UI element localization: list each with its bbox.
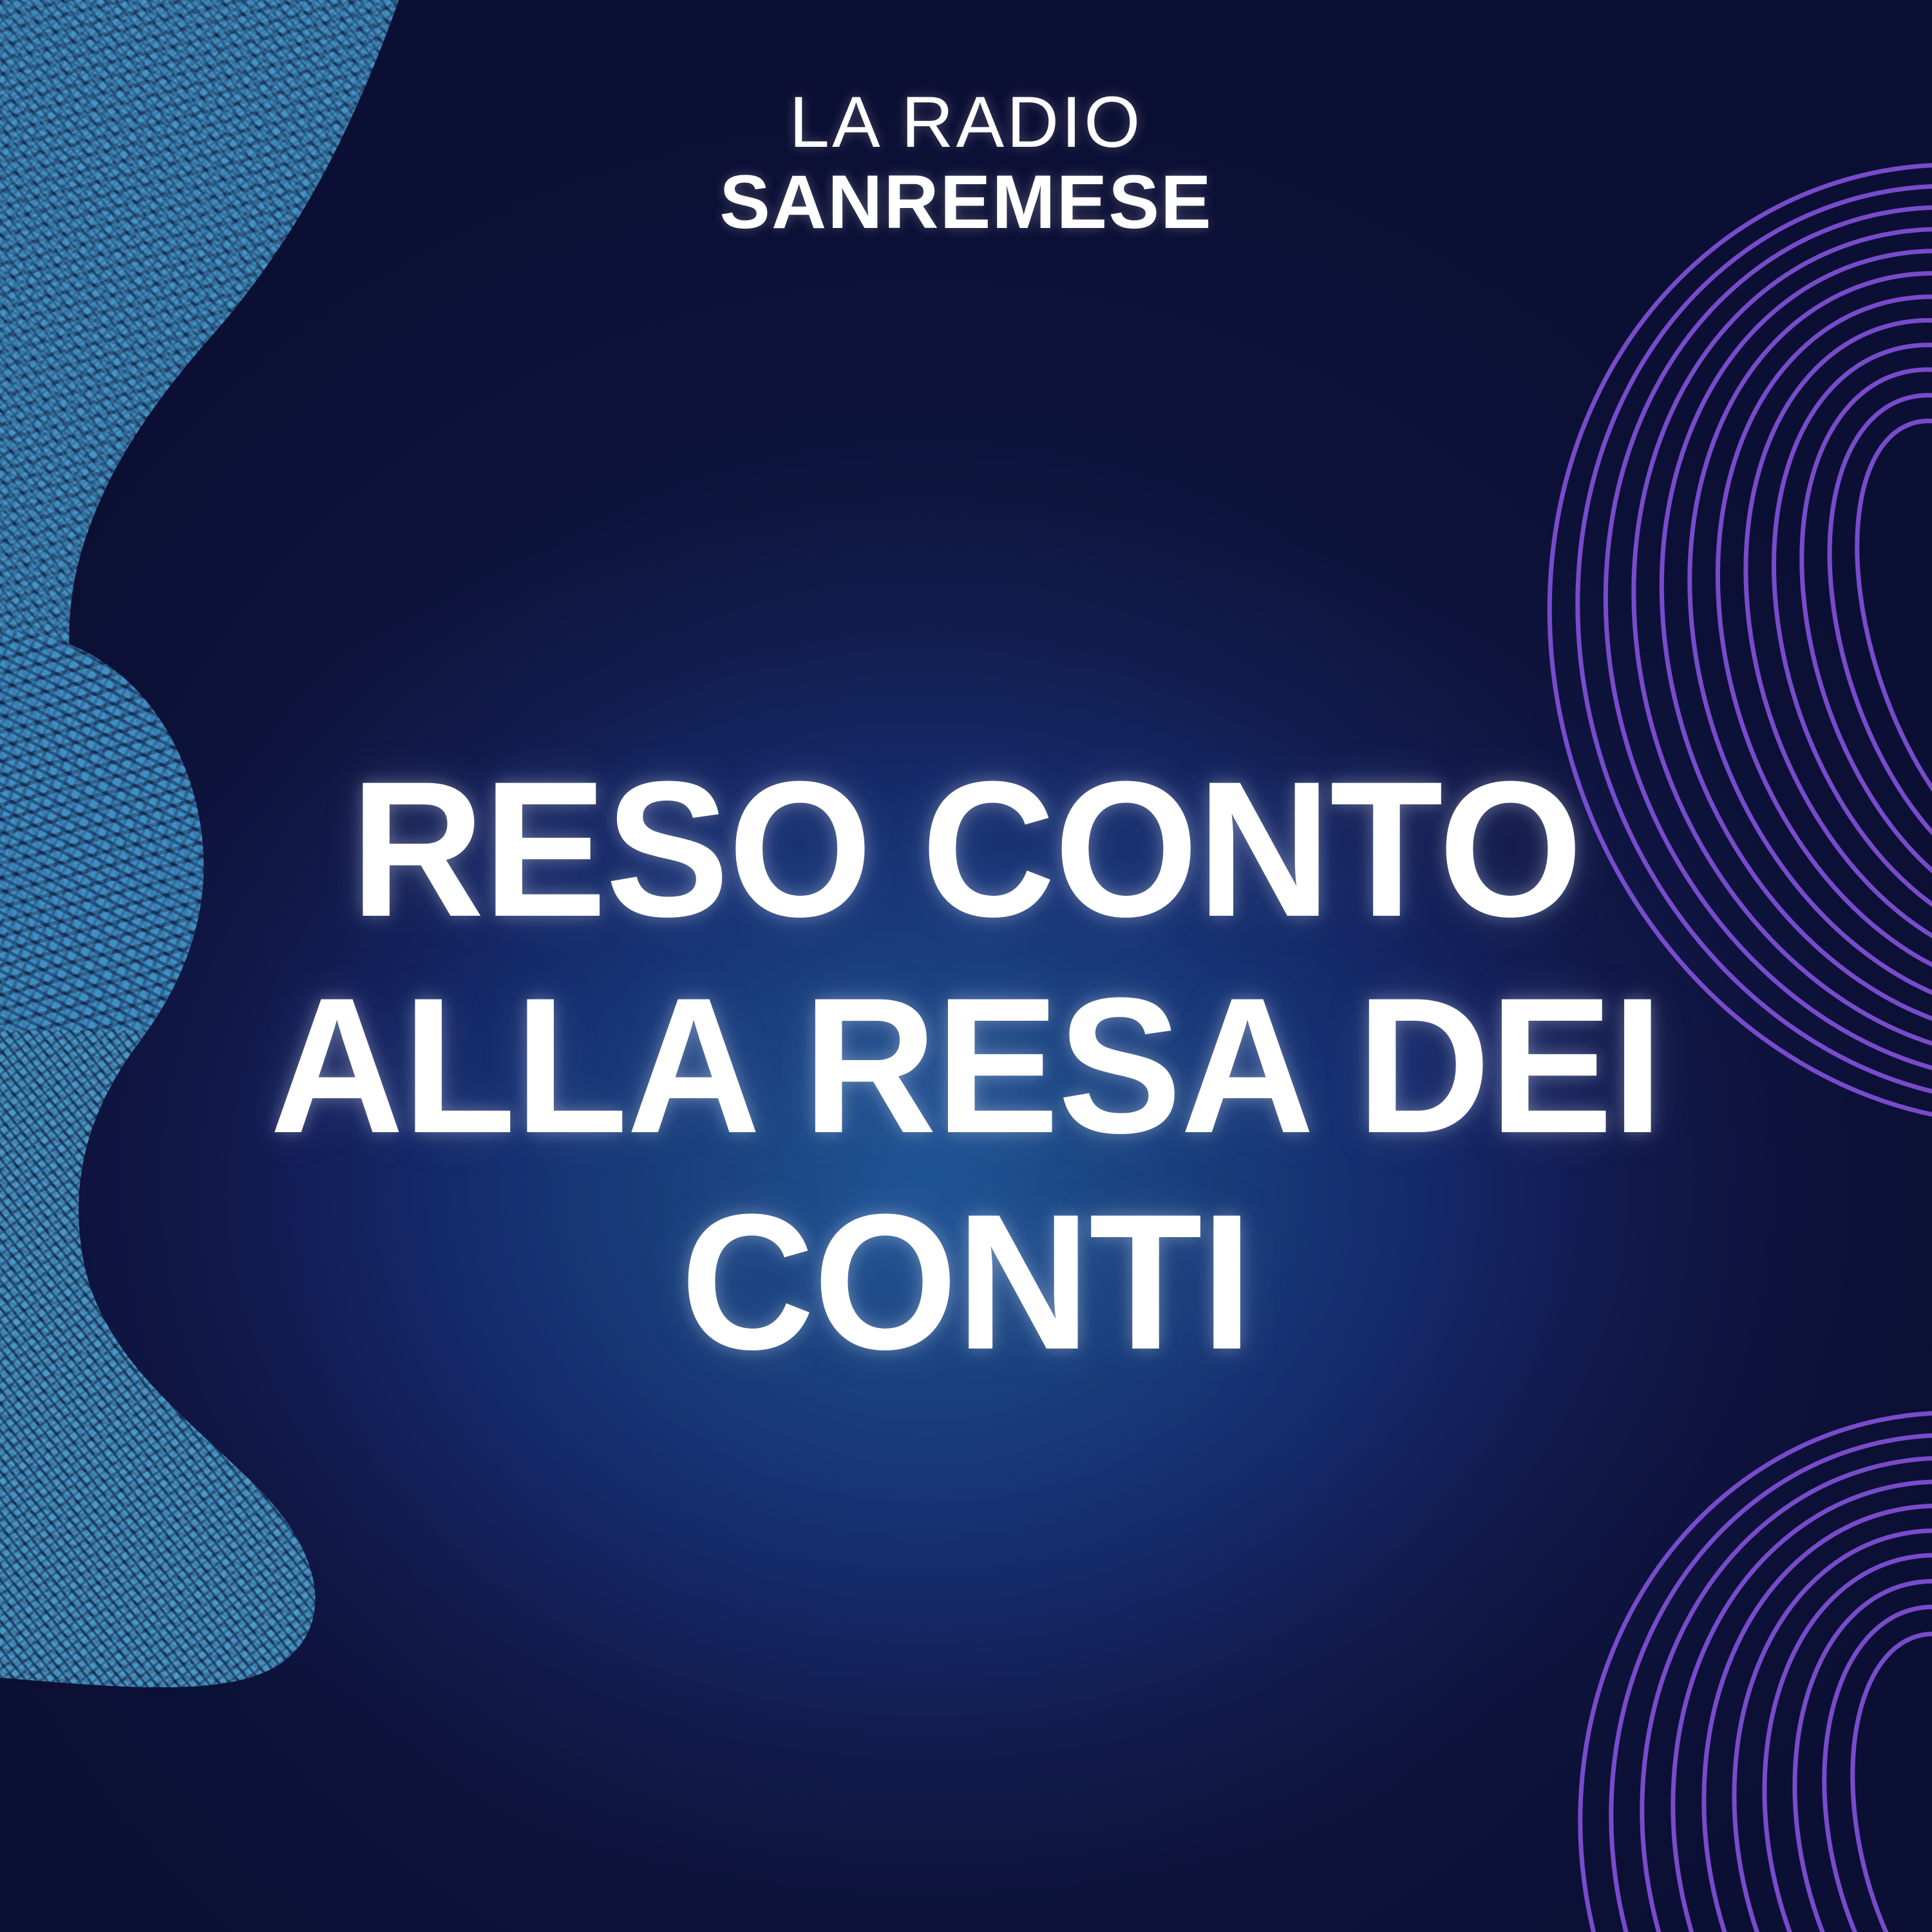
title-line-2: ALLA RESA DEI: [39, 957, 1893, 1173]
brand-line-la-radio: LA RADIO: [0, 84, 1932, 162]
title-line-3: CONTI: [39, 1173, 1893, 1390]
brand-header: LA RADIO SANREMESE: [0, 84, 1932, 243]
episode-title: RESO CONTO ALLA RESA DEI CONTI: [0, 741, 1932, 1390]
brand-line-sanremese: SANREMESE: [0, 162, 1932, 243]
title-line-1: RESO CONTO: [39, 741, 1893, 957]
podcast-cover-art: LA RADIO SANREMESE RESO CONTO ALLA RESA …: [0, 0, 1932, 1932]
right-lower-purple-arcs: [1490, 1329, 1932, 1932]
